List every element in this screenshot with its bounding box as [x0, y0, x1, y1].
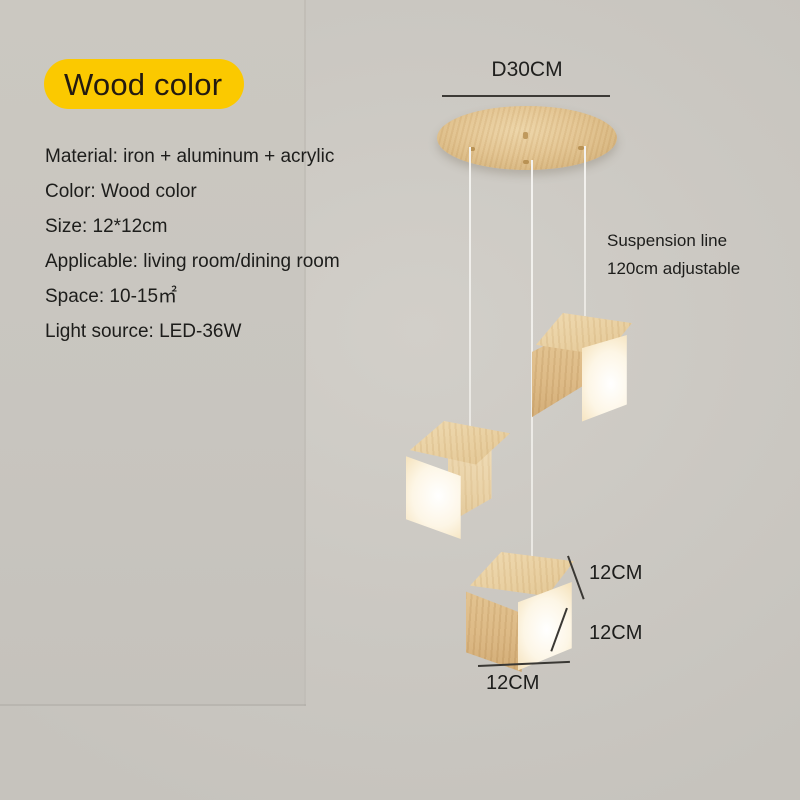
spec-size: Size: 12*12cm	[45, 209, 405, 244]
canopy-diameter-rule	[442, 95, 610, 97]
suspension-line-annotation: Suspension line 120cm adjustable	[607, 227, 777, 283]
wood-color-badge-label: Wood color	[64, 69, 222, 100]
suspension-wire-1	[469, 147, 471, 447]
dimension-label-height: 12CM	[589, 622, 642, 645]
pendant-cube-middle	[404, 421, 516, 533]
background-panel-edge	[304, 0, 306, 706]
spec-space: Space: 10-15㎡	[45, 279, 405, 314]
suspension-wire-3	[584, 146, 586, 316]
wood-color-badge: Wood color	[44, 59, 244, 109]
cube-upper-light-face	[582, 335, 646, 429]
spec-light-source: Light source: LED-36W	[45, 314, 405, 349]
suspension-line-detail: 120cm adjustable	[607, 255, 777, 283]
background-panel-bottom-edge	[0, 704, 306, 706]
dimension-label-depth: 12CM	[589, 562, 642, 585]
spec-color: Color: Wood color	[45, 174, 405, 209]
canopy-diameter-label: D30CM	[442, 58, 612, 82]
specification-list: Material: iron + aluminum + acrylic Colo…	[45, 139, 405, 349]
dimension-label-width: 12CM	[486, 672, 539, 695]
suspension-line-title: Suspension line	[607, 227, 777, 255]
spec-material: Material: iron + aluminum + acrylic	[45, 139, 405, 174]
canopy-center-screw	[523, 132, 528, 139]
pendant-cube-upper	[532, 313, 644, 425]
product-spec-image: Wood color Material: iron + aluminum + a…	[0, 0, 800, 800]
ceiling-canopy	[437, 106, 617, 180]
canopy-wire-outlet-2	[523, 160, 529, 164]
spec-applicable: Applicable: living room/dining room	[45, 244, 405, 279]
cube-lower-light-face	[518, 582, 582, 674]
